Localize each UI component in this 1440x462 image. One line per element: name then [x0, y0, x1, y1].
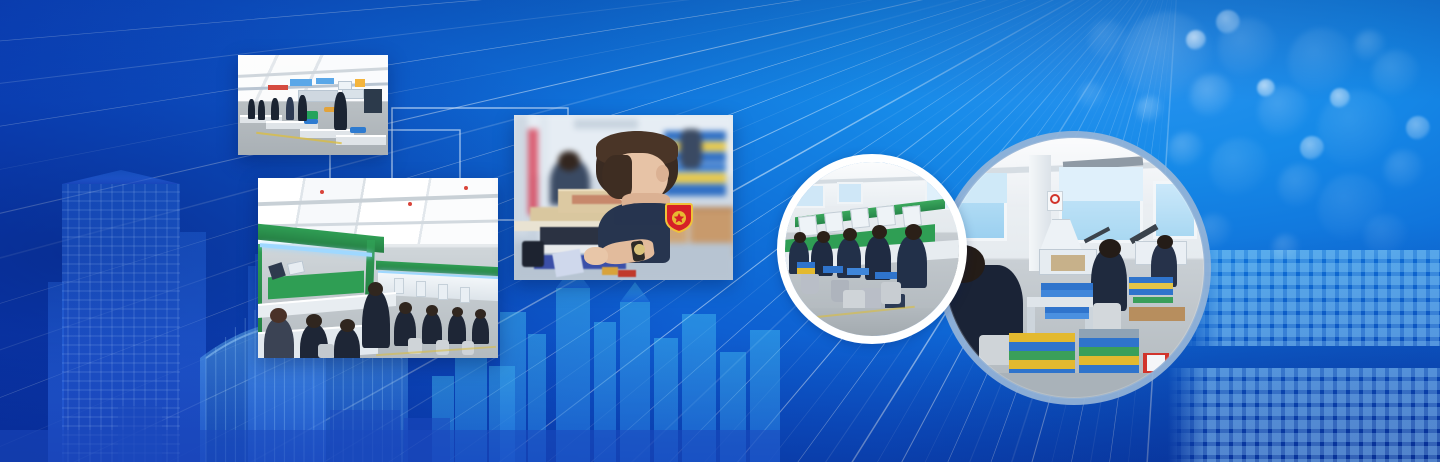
uniform-shield-badge	[664, 201, 694, 233]
factory-capability-banner	[0, 0, 1440, 462]
photo-worker-quality-check[interactable]	[514, 115, 733, 280]
photo-green-production-line[interactable]	[258, 178, 498, 358]
photo-circle-sewing-row[interactable]	[785, 162, 959, 336]
photo-circle-workshop[interactable]	[943, 137, 1205, 399]
photo-assembly-hall[interactable]	[238, 55, 388, 155]
